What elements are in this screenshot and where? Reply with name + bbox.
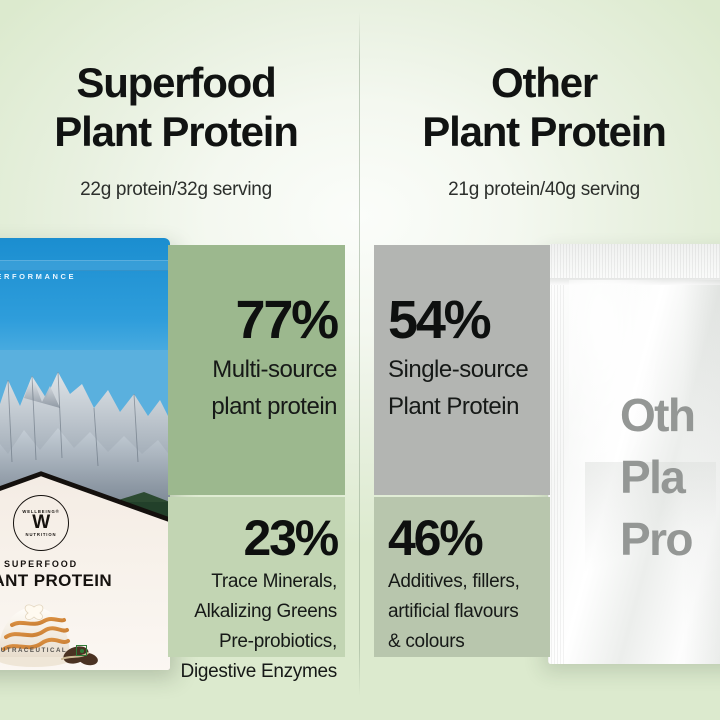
stat-description-line3: & colours — [388, 630, 542, 653]
comparison-infographic: Superfood Plant Protein 22g protein/32g … — [0, 0, 720, 720]
stat-description-line2: Plant Protein — [388, 392, 542, 421]
column-title-line1: Superfood — [0, 58, 352, 107]
product-name-line2: PLANT PROTEIN — [0, 571, 170, 591]
product-package-superfood: YOUR PERFORMANCE — [0, 238, 170, 670]
product-name-line1: SUPERFOOD — [0, 559, 170, 569]
package-left-edge — [548, 285, 566, 664]
package-tagline: YOUR PERFORMANCE — [0, 272, 76, 281]
brand-seal-bottom-text: NUTRITION — [26, 532, 57, 537]
column-title-line1: Other — [368, 58, 720, 107]
column-subtitle: 22g protein/32g serving — [0, 178, 352, 202]
stat-description-line2: plant protein — [176, 392, 337, 421]
stat-description-line1: Single-source — [388, 355, 542, 384]
package-top-seal — [0, 260, 170, 271]
stat-description-line2: Alkalizing Greens — [176, 600, 337, 623]
package-label-line3: Pro — [620, 508, 694, 570]
column-title-line2: Plant Protein — [0, 107, 352, 156]
brand-seal: WELLBEING® W NUTRITION — [13, 495, 69, 551]
stat-block-46: 46% Additives, fillers, artificial flavo… — [374, 497, 550, 657]
stat-percent: 77% — [176, 293, 337, 347]
column-heading-other: Other Plant Protein 21g protein/40g serv… — [368, 58, 720, 202]
package-front-panel: WELLBEING® W NUTRITION SUPERFOOD PLANT P… — [0, 471, 170, 670]
stat-description-line2: artificial flavours — [388, 600, 542, 623]
stat-percent: 23% — [176, 513, 337, 563]
stat-description-line1: Trace Minerals, — [176, 570, 337, 593]
column-heading-superfood: Superfood Plant Protein 22g protein/32g … — [0, 58, 352, 202]
stat-block-23: 23% Trace Minerals, Alkalizing Greens Pr… — [168, 497, 345, 657]
veg-mark-icon — [76, 645, 87, 656]
stat-block-54: 54% Single-source Plant Protein — [374, 245, 550, 495]
stat-percent: 46% — [388, 513, 542, 563]
package-label-text: Oth Pla Pro — [620, 384, 694, 570]
stat-block-77: 77% Multi-source plant protein — [168, 245, 345, 495]
stat-description-line4: Digestive Enzymes — [176, 660, 337, 683]
package-product-name: SUPERFOOD PLANT PROTEIN — [0, 559, 170, 591]
package-certification: NUTRACEUTICAL — [0, 645, 170, 656]
package-top-seal — [548, 244, 720, 278]
caramel-swirl-icon — [0, 597, 106, 670]
column-divider — [359, 12, 360, 696]
stat-description-line1: Multi-source — [176, 355, 337, 384]
stat-percent: 54% — [388, 293, 542, 347]
stat-description-line1: Additives, fillers, — [388, 570, 542, 593]
package-flavour-artwork — [0, 597, 106, 670]
column-title-line2: Plant Protein — [368, 107, 720, 156]
brand-monogram: W — [32, 514, 49, 532]
package-label-line2: Pla — [620, 446, 694, 508]
stat-description-line3: Pre-probiotics, — [176, 630, 337, 653]
certification-label: NUTRACEUTICAL — [0, 647, 67, 654]
product-package-other: Oth Pla Pro — [548, 244, 720, 664]
package-label-line1: Oth — [620, 384, 694, 446]
column-subtitle: 21g protein/40g serving — [368, 178, 720, 202]
